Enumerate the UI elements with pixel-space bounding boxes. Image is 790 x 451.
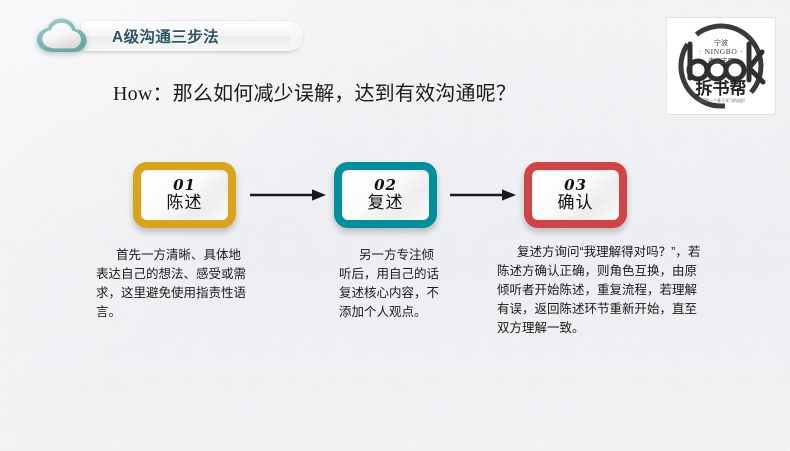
banner-title: A级沟通三步法 [112,25,219,47]
page-heading: How：那么如何减少误解，达到有效沟通呢？ [113,77,516,106]
step-description-02: 另一方专注倾听后，用自己的话复述核心内容，不添加个人观点。 [339,246,443,322]
cloud-icon [33,16,95,56]
logo-third-line: 幸福志愿 [708,56,735,65]
step-label-01: 陈述 [167,194,203,212]
step-label-03: 确认 [558,194,594,212]
arrow-step2-to-step3 [450,188,516,202]
logo-brand: 拆书帮 [696,78,747,98]
logo-middle-line: · NINGBO · [699,47,743,56]
step-description-03: 复述方询问“我理解得对吗？”，若陈述方确认正确，则角色互换，由原倾听者开始陈述，… [497,243,709,338]
step-description-01: 首先一方清晰、具体地表达自己的想法、感受或需求，这里避免使用指责性语言。 [96,246,246,322]
slide-canvas: A级沟通三步法 宁波 · NINGBO · 幸福志愿 拆书帮 中国第一个 [0,0,790,451]
title-banner: A级沟通三步法 [33,16,303,56]
step-label-02: 复述 [368,194,404,212]
logo-mark: 宁波 · NINGBO · 幸福志愿 拆书帮 中国第一个基于学习的组织 [667,18,775,114]
step-box-02[interactable]: 02 复述 [334,162,437,228]
step-number-03: 03 [564,178,587,193]
logo-top-line: 宁波 [714,38,728,47]
step-box-01[interactable]: 01 陈述 [133,162,236,228]
arrow-step1-to-step2 [250,188,326,202]
step-number-02: 02 [374,178,397,193]
step-number-01: 01 [173,178,196,193]
step-box-03[interactable]: 03 确认 [524,162,627,228]
brand-logo: 宁波 · NINGBO · 幸福志愿 拆书帮 中国第一个基于学习的组织 [666,17,776,115]
logo-subscript: 中国第一个基于学习的组织 [697,97,745,103]
